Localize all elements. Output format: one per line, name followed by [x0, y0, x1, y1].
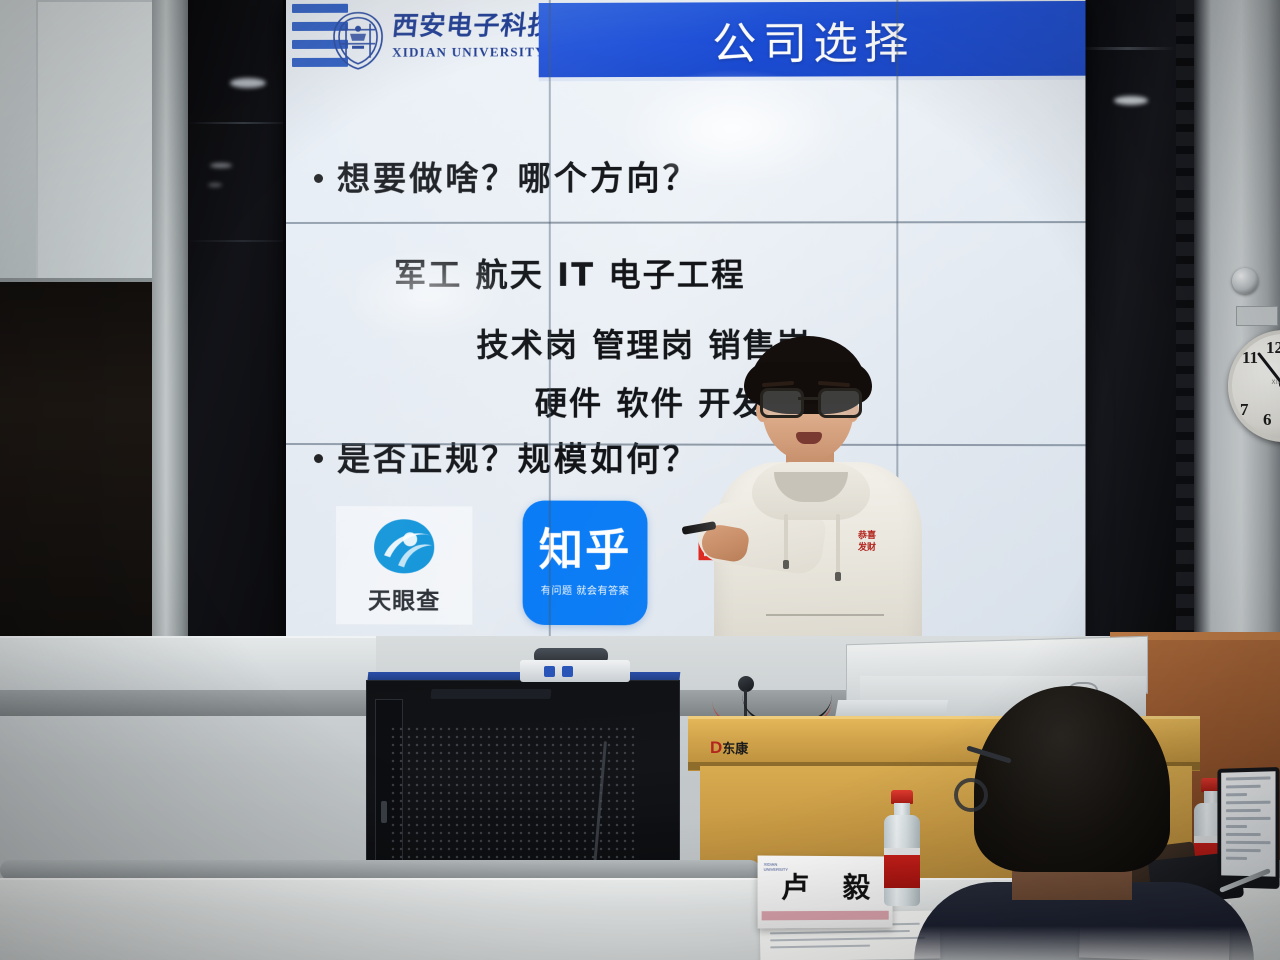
clock-numeral: 12 [1266, 338, 1280, 358]
slide-title-underline [539, 76, 1086, 82]
eyeglasses-lens-icon [954, 778, 988, 812]
desk-rail [0, 860, 760, 880]
name-card-stripe [762, 911, 889, 921]
wall-post-left [152, 0, 192, 700]
bottle-label [884, 848, 920, 888]
hoodie-logo-line1: 恭喜 [858, 532, 896, 541]
university-crest-icon [328, 10, 388, 72]
tianyancha-logo: 天眼查 [336, 506, 472, 625]
slide-bullet-text: 是否正规？规模如何？ [337, 432, 699, 481]
hoodie-drawstring [784, 514, 788, 562]
whiteboard-surface [36, 0, 156, 282]
name-card: XIDIANUNIVERSITY 卢 毅 [758, 855, 893, 928]
wall-vent-strip [1176, 0, 1194, 640]
device-port [544, 666, 555, 677]
pillar-plate [1236, 306, 1278, 326]
rack-handle[interactable] [381, 801, 387, 823]
eyeglasses-icon [758, 388, 860, 412]
device-port [562, 666, 573, 677]
clock-brand: XIDIAN [1248, 380, 1280, 386]
tianyancha-logo-icon [368, 515, 440, 577]
bullet-dot-icon [314, 454, 323, 463]
rack-vent-slot [430, 689, 551, 699]
panel-seam-vertical [549, 0, 551, 641]
podium-microphone-icon [738, 676, 754, 692]
hoodie-logo-line2: 发财 [858, 544, 896, 553]
water-bottle [880, 790, 924, 906]
lecture-hall-photo: 11 12 5 6 7 XIDIAN [0, 0, 1280, 960]
zhihu-label: 知乎 [539, 529, 632, 573]
bullet-dot-icon [314, 174, 323, 183]
clock-numeral: 11 [1242, 348, 1258, 368]
hoodie-drawstring [836, 514, 840, 574]
back-counter [0, 636, 376, 698]
tianyancha-label: 天眼查 [368, 581, 440, 615]
hoodie-chest-logo: 恭喜 发财 [858, 532, 896, 562]
name-card-name: 卢 毅 [758, 866, 893, 907]
zhihu-tagline: 有问题 就会有答案 [541, 582, 629, 597]
dark-wall-panel-right [1080, 0, 1176, 640]
clock-numeral: 7 [1240, 400, 1249, 420]
podium-brand-name: 东康 [722, 741, 748, 756]
slide-bullet: 想要做啥？哪个方向？ [314, 151, 699, 200]
whiteboard [0, 0, 155, 282]
podium-brand-mark: D [710, 738, 722, 757]
pillar-knob [1232, 268, 1258, 294]
audience-member [960, 686, 1260, 960]
slide-bullet-text: 想要做啥？哪个方向？ [337, 151, 699, 200]
bottle-cap [891, 790, 913, 804]
slide-keyword-line: 军工 航天 IT 电子工程 [394, 250, 745, 296]
slide-title-bar: 公司选择 [539, 1, 1086, 77]
podium-brand-logo: D东康 [710, 738, 748, 758]
presenter-mouth [796, 432, 822, 444]
zhihu-logo: 知乎 有问题 就会有答案 [523, 501, 648, 626]
slide-bullet: 是否正规？规模如何？ [314, 432, 699, 481]
audience-hair [974, 686, 1170, 872]
clock-numeral: 6 [1263, 410, 1272, 430]
slide-title: 公司选择 [712, 7, 915, 72]
av-switch-device[interactable] [520, 660, 630, 682]
dark-wall-panel-left [188, 0, 298, 700]
